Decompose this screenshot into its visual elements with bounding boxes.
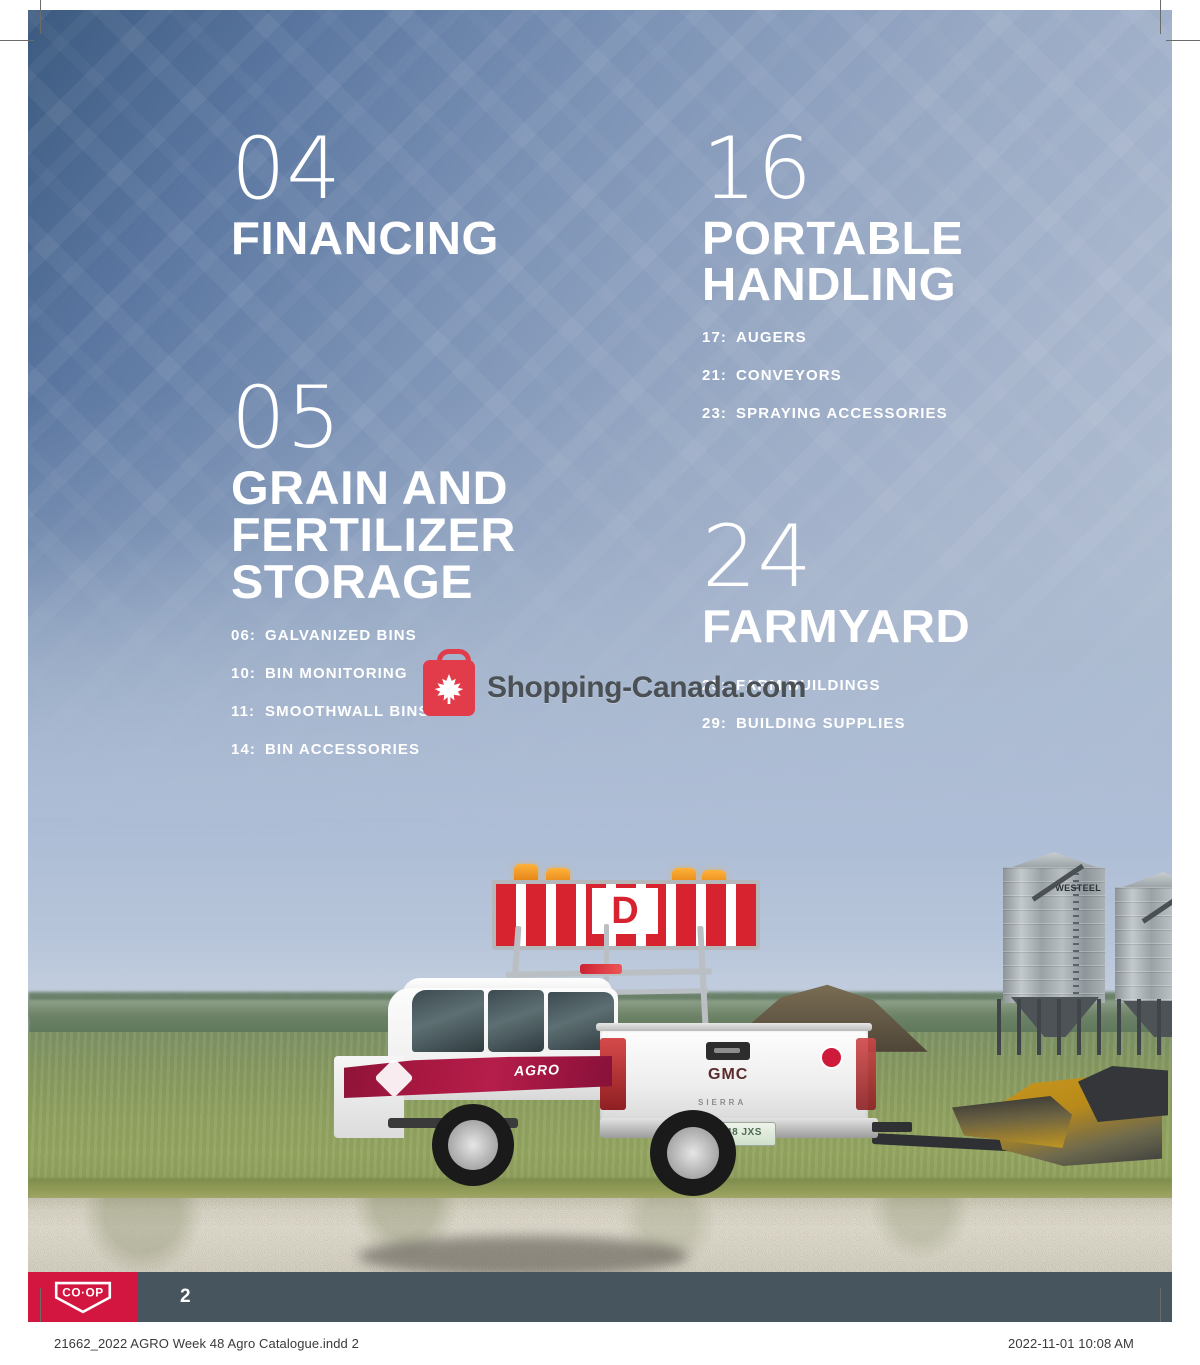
toc-subitem-spraying-accessories[interactable]: 23:SPRAYING ACCESSORIES bbox=[702, 405, 1062, 422]
catalogue-page: WESTEEL bbox=[28, 10, 1172, 1272]
crop-mark-bottom-right-v bbox=[1160, 1288, 1161, 1322]
shopping-bag-maple-leaf-icon bbox=[423, 660, 475, 716]
toc-title-line: GRAIN AND bbox=[231, 464, 592, 511]
svg-text:CO·OP: CO·OP bbox=[62, 1285, 103, 1299]
watermark-text: Shopping-Canada.com bbox=[487, 671, 806, 705]
toc-subitem-label: BIN ACCESSORIES bbox=[265, 741, 420, 758]
toc-title-line: PORTABLE bbox=[702, 215, 1073, 261]
co-op-logo-mark: CO·OP bbox=[52, 1280, 114, 1314]
toc-subitem-label: BUILDING SUPPLIES bbox=[736, 715, 906, 732]
page-footer: CO·OP 2 bbox=[28, 1272, 1172, 1322]
print-slug-timestamp: 2022-11-01 10:08 AM bbox=[1008, 1336, 1134, 1351]
toc-subitem-bin-accessories[interactable]: 14:BIN ACCESSORIES bbox=[231, 741, 581, 758]
toc-subitem-page: 06: bbox=[231, 627, 265, 644]
toc-subitem-label: GALVANIZED BINS bbox=[265, 627, 417, 644]
crop-mark-top-left-h bbox=[0, 40, 34, 41]
toc-subitem-label: AUGERS bbox=[736, 329, 807, 346]
toc-number: 04 bbox=[231, 130, 581, 209]
maple-leaf-icon bbox=[432, 672, 466, 706]
toc-entry-portable-handling[interactable]: 16 PORTABLE HANDLING 17:AUGERS 21:CONVEY… bbox=[702, 130, 1062, 422]
toc-subitem-page: 11: bbox=[231, 703, 265, 720]
toc-subitem-page: 21: bbox=[702, 367, 736, 384]
toc-subitem-label: BIN MONITORING bbox=[265, 665, 408, 682]
toc-subitem-page: 14: bbox=[231, 741, 265, 758]
toc-subitem-augers[interactable]: 17:AUGERS bbox=[702, 329, 1062, 346]
toc-subitem-page: 29: bbox=[702, 715, 736, 732]
print-slug: 21662_2022 AGRO Week 48 Agro Catalogue.i… bbox=[0, 1332, 1200, 1362]
crop-mark-top-right-h bbox=[1166, 40, 1200, 41]
toc-subitem-building-supplies[interactable]: 29:BUILDING SUPPLIES bbox=[702, 715, 1062, 732]
toc-subitem-page: 23: bbox=[702, 405, 736, 422]
toc-subitem-conveyors[interactable]: 21:CONVEYORS bbox=[702, 367, 1062, 384]
crop-mark-top-left-v bbox=[40, 0, 41, 34]
toc-subitem-page: 17: bbox=[702, 329, 736, 346]
toc-title-line: FARMYARD bbox=[702, 603, 1073, 649]
footer-brand-block: CO·OP bbox=[28, 1272, 138, 1322]
footer-page-bar: 2 bbox=[138, 1272, 1172, 1322]
crop-mark-bottom-left-v bbox=[40, 1288, 41, 1322]
toc-subitem-label: SPRAYING ACCESSORIES bbox=[736, 405, 948, 422]
toc-entry-financing[interactable]: 04 FINANCING bbox=[231, 130, 581, 261]
print-slug-filename: 21662_2022 AGRO Week 48 Agro Catalogue.i… bbox=[54, 1336, 359, 1351]
toc-number: 16 bbox=[702, 130, 1062, 209]
toc-title-line: FERTILIZER bbox=[231, 511, 592, 558]
toc-subitem-page: 10: bbox=[231, 665, 265, 682]
watermark: Shopping-Canada.com bbox=[423, 660, 806, 716]
co-op-logo: CO·OP bbox=[52, 1280, 114, 1314]
toc-title-line: STORAGE bbox=[231, 558, 592, 605]
toc-subitem-label: CONVEYORS bbox=[736, 367, 842, 384]
toc-number: 05 bbox=[231, 379, 581, 458]
toc-subitem-galvanized-bins[interactable]: 06:GALVANIZED BINS bbox=[231, 627, 581, 644]
table-of-contents: 04 FINANCING 05 GRAIN AND FERTILIZER STO… bbox=[28, 10, 1172, 1272]
toc-subitem-list: 17:AUGERS 21:CONVEYORS 23:SPRAYING ACCES… bbox=[702, 329, 1062, 422]
toc-title-line: HANDLING bbox=[702, 261, 1073, 307]
crop-mark-top-right-v bbox=[1160, 0, 1161, 34]
toc-subitem-label: SMOOTHWALL BINS bbox=[265, 703, 430, 720]
toc-title-line: FINANCING bbox=[231, 215, 592, 261]
page-number: 2 bbox=[180, 1286, 191, 1308]
toc-number: 24 bbox=[702, 518, 1062, 597]
